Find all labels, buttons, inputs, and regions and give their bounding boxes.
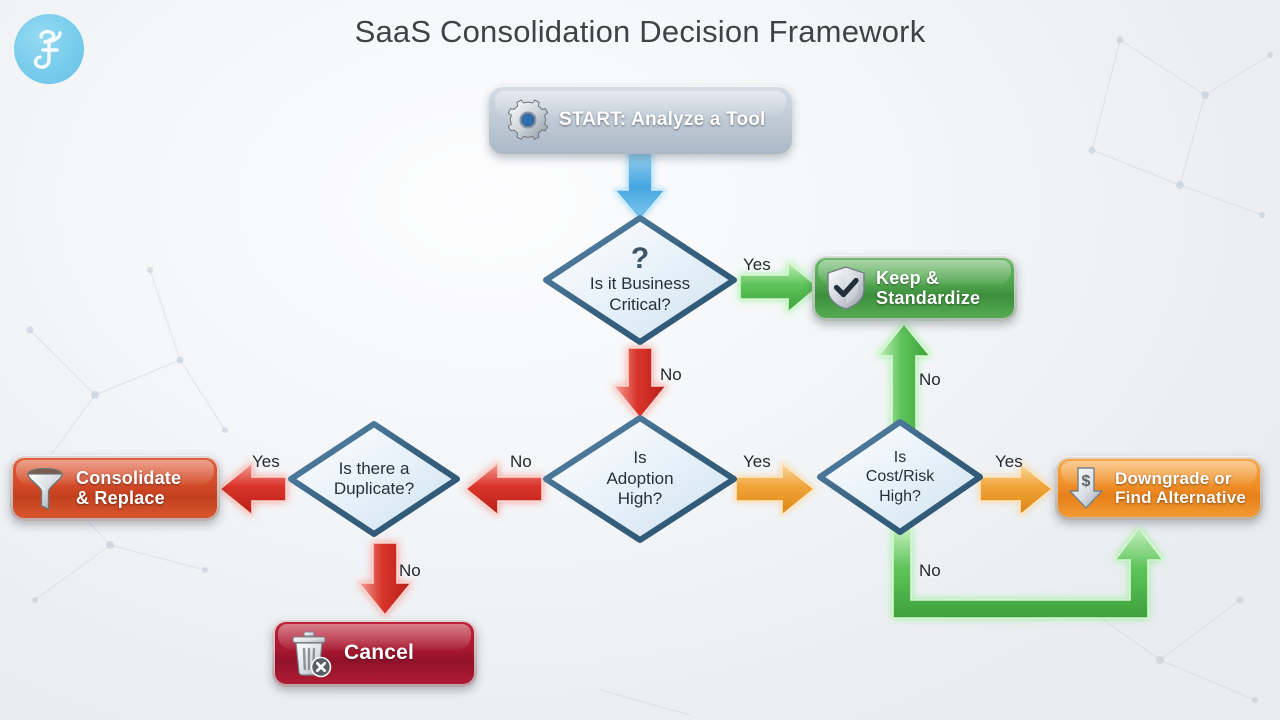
node-decision-cost-risk[interactable]: Is Cost/Risk High? — [815, 417, 985, 537]
edge-critical-to-adoption — [614, 348, 666, 418]
node-label-line2: Standardize — [876, 288, 980, 308]
node-start[interactable]: START: Analyze a Tool — [489, 86, 792, 154]
trash-delete-icon — [287, 628, 335, 678]
node-decision-business-critical[interactable]: ? Is it Business Critical? — [540, 212, 740, 348]
node-keep-standardize[interactable]: Keep & Standardize — [812, 255, 1017, 321]
edge-label-duplicate-yes: Yes — [252, 452, 280, 472]
node-label-line1: Is there a — [339, 459, 410, 479]
node-label-line2: Duplicate? — [334, 479, 414, 499]
gear-icon — [506, 98, 550, 142]
question-mark-icon: ? — [631, 245, 649, 272]
node-decision-duplicate[interactable]: Is there a Duplicate? — [285, 418, 463, 540]
edge-label-costrisk-no: No — [919, 370, 941, 390]
node-label-line2: Adoption — [606, 469, 673, 489]
node-cancel-label: Cancel — [344, 641, 414, 665]
node-label-line2: Cost/Risk — [866, 467, 934, 486]
node-label-line3: High? — [879, 487, 921, 506]
node-label-line2: Find Alternative — [1115, 488, 1246, 507]
node-label-line1: Is — [633, 448, 646, 468]
node-label-line1: Keep & — [876, 268, 939, 288]
flowchart-canvas: SaaS Consolidation Decision Framework — [0, 0, 1280, 720]
edge-start-to-critical — [615, 152, 665, 220]
node-decision-adoption-high[interactable]: Is Adoption High? — [540, 412, 740, 546]
node-label-line2: & Replace — [76, 488, 165, 508]
edge-label-critical-no: No — [660, 365, 682, 385]
node-label-line1: Downgrade or — [1115, 469, 1232, 488]
node-start-label: START: Analyze a Tool — [559, 109, 766, 130]
edge-label-critical-yes: Yes — [743, 255, 771, 275]
node-label-line1: Is — [894, 448, 906, 467]
edge-label-adoption-no: No — [510, 452, 532, 472]
svg-text:$: $ — [1082, 473, 1091, 490]
node-consolidate-replace[interactable]: Consolidate & Replace — [10, 455, 220, 521]
dollar-down-arrow-icon: $ — [1066, 465, 1106, 511]
edge-label-costrisk-yes: Yes — [995, 452, 1023, 472]
node-label-line1: Consolidate — [76, 468, 181, 488]
node-label-line2: Critical? — [609, 295, 670, 315]
shield-check-icon — [825, 265, 867, 311]
node-cancel[interactable]: Cancel — [272, 619, 477, 687]
edge-label-duplicate-no: No — [399, 561, 421, 581]
node-downgrade-find-alternative[interactable]: $ Downgrade or Find Alternative — [1055, 456, 1263, 520]
node-label-line1: Is it Business — [590, 274, 690, 294]
edge-label-downgrade-no: No — [919, 561, 941, 581]
node-label-line3: High? — [618, 489, 662, 509]
funnel-icon — [23, 465, 67, 511]
edge-label-adoption-yes: Yes — [743, 452, 771, 472]
